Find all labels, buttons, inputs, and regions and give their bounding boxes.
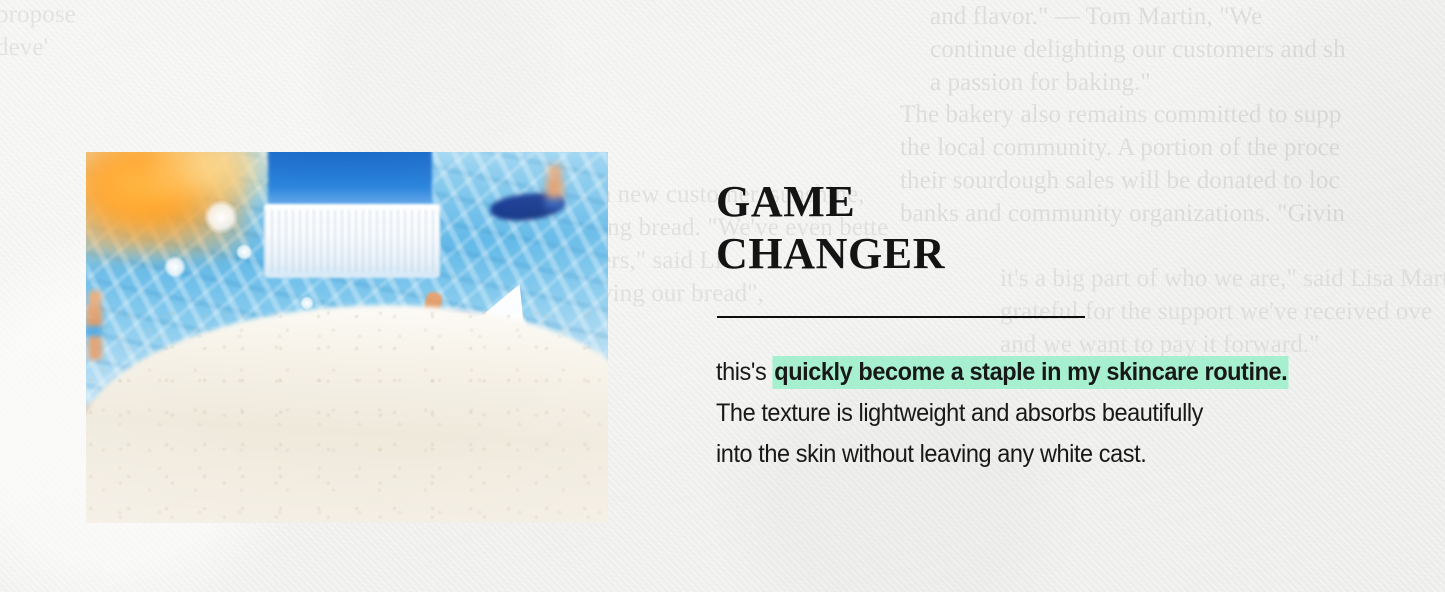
photo-sunscreen-bottle-cap — [268, 152, 432, 206]
photo-sunscreen-bottle-ridges — [264, 210, 440, 272]
page-title: GAME CHANGER — [716, 176, 945, 280]
photo-bokeh-dot — [204, 200, 238, 234]
product-photo-image — [86, 152, 608, 523]
review-line-1-lead: this's — [716, 358, 772, 386]
review-line-3: into the skin without leaving any white … — [716, 434, 1355, 475]
content-column: GAME CHANGER this's quickly become a sta… — [716, 0, 1416, 592]
review-line-1-highlight: quickly become a staple in my skincare r… — [772, 356, 1288, 389]
photo-figurine-top-right — [538, 164, 572, 220]
photo-bokeh-dot — [164, 256, 186, 278]
review-line-2: The texture is lightweight and absorbs b… — [716, 393, 1355, 434]
product-photo — [86, 152, 608, 523]
photo-sun-blur-blob-secondary — [152, 152, 272, 204]
ghost-text-top-left: propose deve' — [0, 0, 226, 64]
review-line-1: this's quickly become a staple in my ski… — [716, 352, 1355, 393]
photo-bokeh-dot — [236, 244, 252, 260]
review-banner: propose deve' and flavor." — Tom Martin,… — [0, 0, 1445, 592]
review-body: this's quickly become a staple in my ski… — [716, 352, 1396, 475]
horizontal-rule — [717, 316, 1085, 318]
photo-sand-grain-texture — [86, 303, 608, 523]
